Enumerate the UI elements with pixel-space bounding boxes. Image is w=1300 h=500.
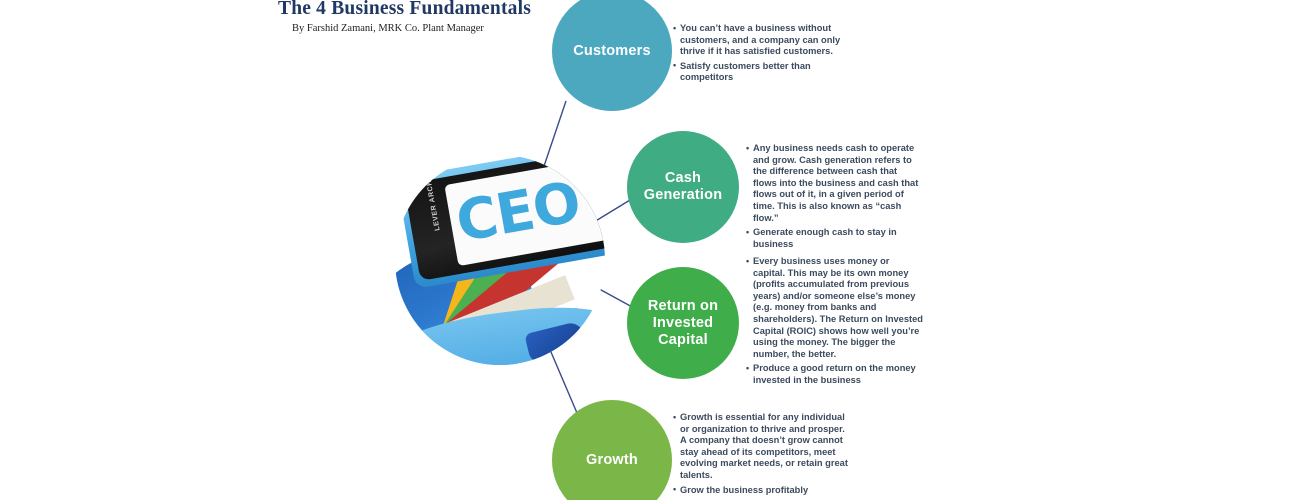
node-growth[interactable]: Growth <box>552 400 672 500</box>
node-customers[interactable]: Customers <box>552 0 672 111</box>
list-item: Any business needs cash to operate and g… <box>746 143 922 224</box>
bullets-return-on-invested-capital: Every business uses money or capital. Th… <box>746 256 924 390</box>
list-item: Grow the business profitably <box>673 485 849 497</box>
bullets-cash-generation: Any business needs cash to operate and g… <box>746 143 922 253</box>
node-customers-label: Customers <box>565 43 659 60</box>
list-item: You can’t have a business without custom… <box>673 23 849 58</box>
list-item: Generate enough cash to stay in business <box>746 227 922 250</box>
bullets-growth: Growth is essential for any individual o… <box>673 412 849 499</box>
infographic-canvas: The 4 Business Fundamentals By Farshid Z… <box>0 0 1300 500</box>
list-item: Satisfy customers better than competitor… <box>673 61 849 84</box>
list-item: Every business uses money or capital. Th… <box>746 256 924 360</box>
node-roic-label-line3: Capital <box>658 332 708 348</box>
list-item: Produce a good return on the money inves… <box>746 363 924 386</box>
node-return-on-invested-capital[interactable]: Return on Invested Capital <box>627 267 739 379</box>
node-cash-generation[interactable]: Cash Generation <box>627 131 739 243</box>
node-roic-label: Return on Invested Capital <box>640 298 726 349</box>
node-cash-generation-label-line2: Generation <box>644 187 723 203</box>
node-cash-generation-label: Cash Generation <box>636 170 731 204</box>
node-roic-label-line1: Return on <box>648 298 718 314</box>
node-growth-label: Growth <box>578 452 646 469</box>
list-item: Growth is essential for any individual o… <box>673 412 849 482</box>
node-cash-generation-label-line1: Cash <box>665 170 701 186</box>
node-roic-label-line2: Invested <box>653 315 713 331</box>
center-photo: LEVER ARCH FILE CEO <box>395 155 605 365</box>
bullets-customers: You can’t have a business without custom… <box>673 23 849 87</box>
ceo-photo: LEVER ARCH FILE CEO <box>395 155 605 365</box>
